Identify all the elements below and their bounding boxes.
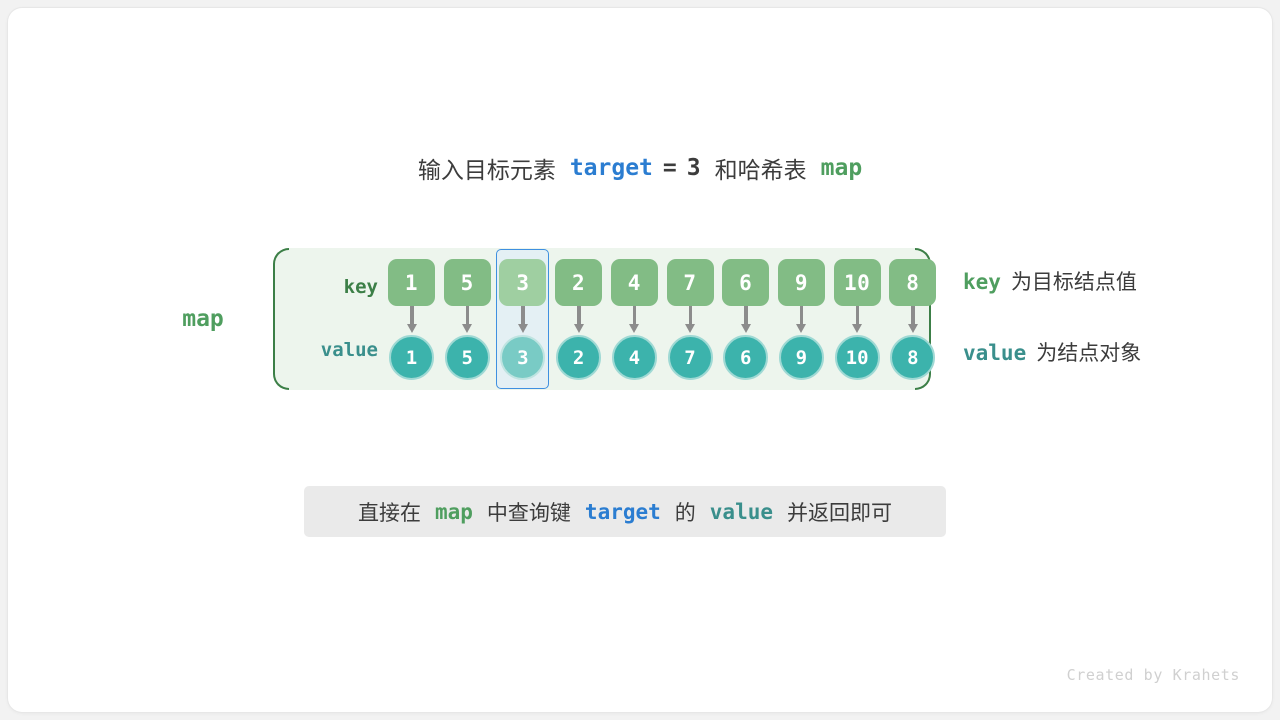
- title-middle: 和哈希表: [715, 151, 807, 185]
- down-arrow-icon: [909, 306, 916, 334]
- hashmap-column[interactable]: 1010: [831, 248, 884, 390]
- key-cell[interactable]: 2: [555, 259, 602, 306]
- footer-credit: Created by Krahets: [1067, 666, 1240, 684]
- hashmap-column[interactable]: 11: [385, 248, 438, 390]
- value-node[interactable]: 9: [779, 335, 824, 380]
- value-node[interactable]: 2: [556, 335, 601, 380]
- legend-key-desc: 为目标结点值: [1011, 271, 1137, 294]
- title-map-keyword: map: [821, 155, 863, 181]
- key-cell[interactable]: 3: [499, 259, 546, 306]
- hashmap-column[interactable]: 77: [664, 248, 717, 390]
- title-target-keyword: target: [570, 155, 653, 181]
- hashmap-column[interactable]: 99: [775, 248, 828, 390]
- title-target-value: 3: [687, 155, 701, 181]
- down-arrow-icon: [408, 306, 415, 334]
- caption-part4: 并返回即可: [787, 497, 892, 527]
- hashmap-column[interactable]: 22: [552, 248, 605, 390]
- key-cell[interactable]: 4: [611, 259, 658, 306]
- value-node[interactable]: 4: [612, 335, 657, 380]
- caption-part1: 直接在: [358, 497, 421, 527]
- down-arrow-icon: [464, 306, 471, 334]
- down-arrow-icon: [854, 306, 861, 334]
- key-row-label: key: [298, 276, 378, 298]
- caption-map-keyword: map: [435, 500, 473, 524]
- key-cell[interactable]: 8: [889, 259, 936, 306]
- caption-target-keyword: target: [585, 500, 661, 524]
- legend-key-term: key: [963, 270, 1001, 294]
- hashmap-column[interactable]: 66: [719, 248, 772, 390]
- legend-key: key为目标结点值: [963, 266, 1137, 296]
- map-outer-label: map: [128, 306, 278, 332]
- value-node[interactable]: 3: [500, 335, 545, 380]
- hashmap-column[interactable]: 88: [886, 248, 939, 390]
- value-node[interactable]: 10: [835, 335, 880, 380]
- caption-value-keyword: value: [710, 500, 773, 524]
- key-cell[interactable]: 1: [388, 259, 435, 306]
- key-cell[interactable]: 7: [667, 259, 714, 306]
- value-node[interactable]: 5: [445, 335, 490, 380]
- key-cell[interactable]: 9: [778, 259, 825, 306]
- title-equals: =: [663, 155, 677, 181]
- page-card: 输入目标元素target=3和哈希表map map key value 1155…: [8, 8, 1272, 712]
- value-node[interactable]: 1: [389, 335, 434, 380]
- value-node[interactable]: 7: [668, 335, 713, 380]
- key-cell[interactable]: 5: [444, 259, 491, 306]
- legend-value-term: value: [963, 341, 1026, 365]
- title-line: 输入目标元素target=3和哈希表map: [8, 151, 1272, 185]
- down-arrow-icon: [687, 306, 694, 334]
- hashmap-column[interactable]: 44: [608, 248, 661, 390]
- caption-part2: 中查询键: [487, 497, 571, 527]
- key-cell[interactable]: 10: [834, 259, 881, 306]
- caption-part3: 的: [675, 497, 696, 527]
- value-row-label: value: [298, 339, 378, 361]
- value-node[interactable]: 8: [890, 335, 935, 380]
- down-arrow-icon: [575, 306, 582, 334]
- map-brace-left: [273, 248, 289, 390]
- key-cell[interactable]: 6: [722, 259, 769, 306]
- down-arrow-icon: [798, 306, 805, 334]
- title-prefix: 输入目标元素: [418, 151, 556, 185]
- legend-value-desc: 为结点对象: [1036, 342, 1141, 365]
- hashmap-column[interactable]: 55: [441, 248, 494, 390]
- down-arrow-icon: [742, 306, 749, 334]
- down-arrow-icon: [519, 306, 526, 334]
- hashmap-container: key value 1155332244776699101088: [273, 248, 931, 390]
- legend-value: value为结点对象: [963, 337, 1141, 367]
- down-arrow-icon: [631, 306, 638, 334]
- caption-box: 直接在map中查询键target的value并返回即可: [304, 486, 946, 537]
- value-node[interactable]: 6: [723, 335, 768, 380]
- hashmap-column[interactable]: 33: [496, 248, 549, 390]
